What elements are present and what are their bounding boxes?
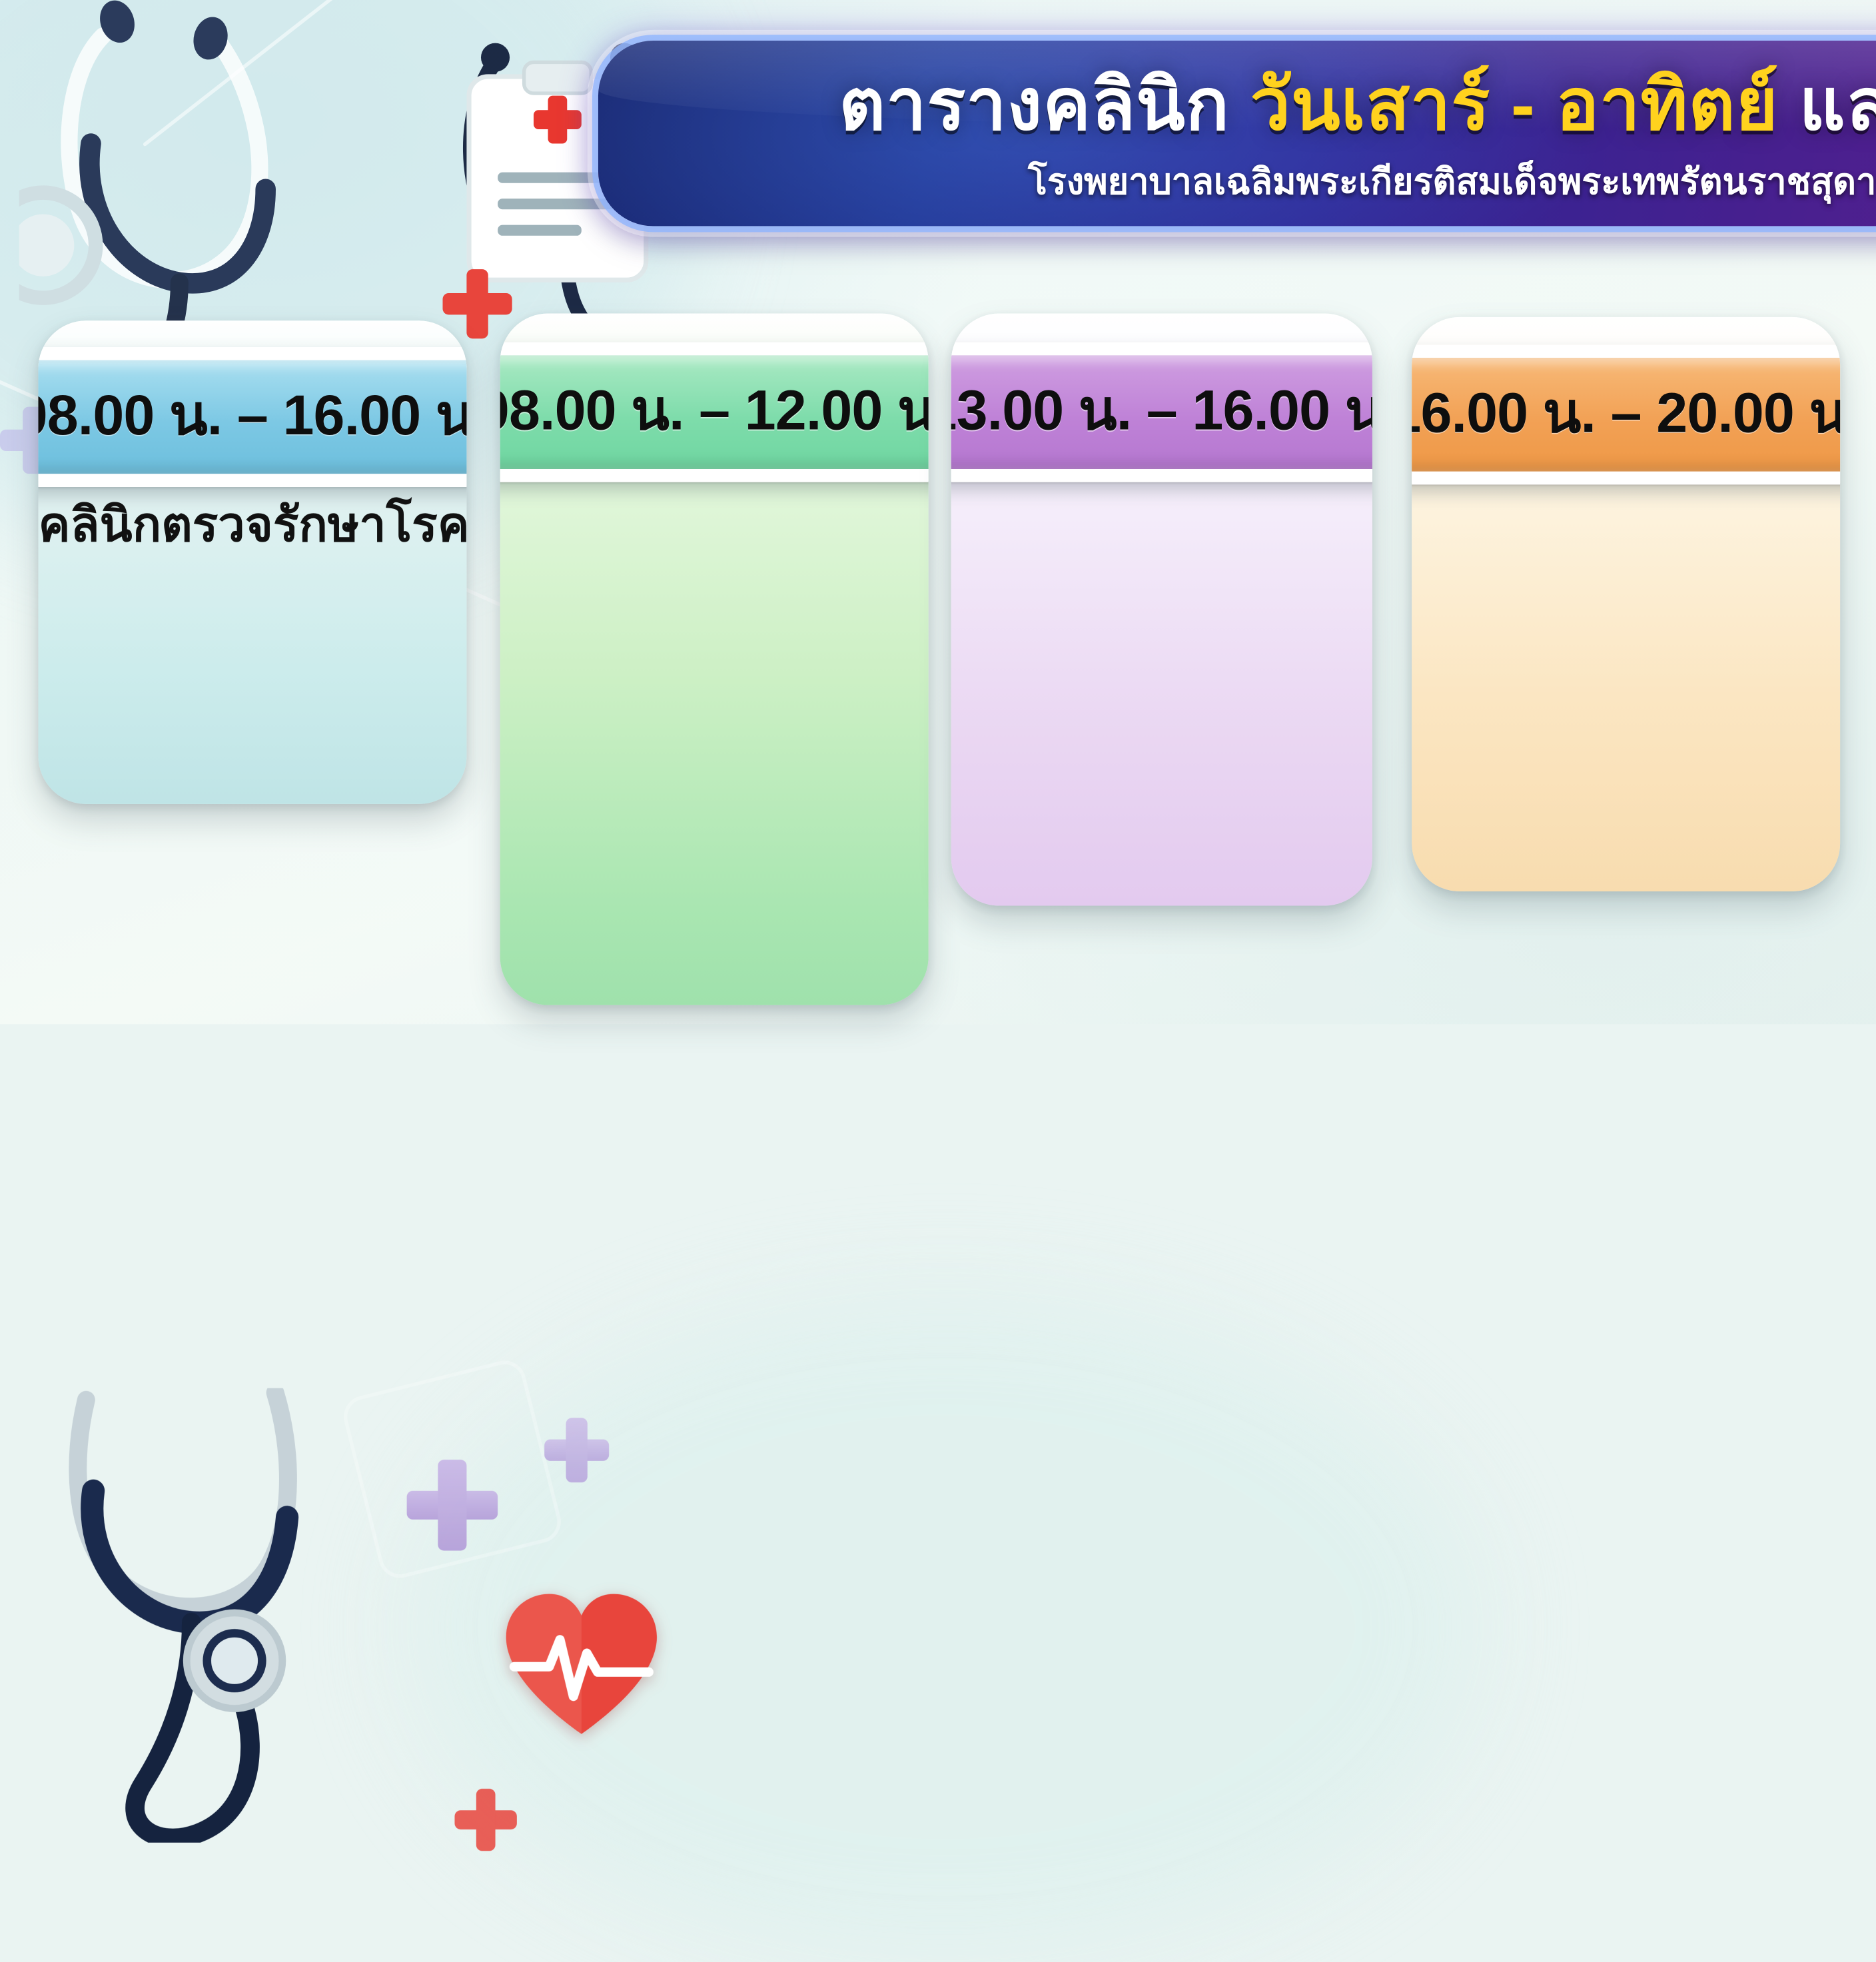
poster-canvas: ตารางคลินิก วันเสาร์ - อาทิตย์ และ วันหย…: [0, 0, 1876, 1024]
time-badge-wrapper-3: 13.00 น. – 16.00 น.: [951, 342, 1372, 482]
heart-pulse-icon: [500, 1592, 663, 1742]
time-badge-3: 13.00 น. – 16.00 น.: [951, 355, 1372, 469]
title-part-2: วันเสาร์ - อาทิตย์: [1250, 64, 1799, 144]
time-badge-1: 08.00 น. – 16.00 น.: [38, 360, 466, 474]
hospital-subtitle: โรงพยาบาลเฉลิมพระเกียรติสมเด็จพระเทพรัตน…: [1028, 154, 1876, 210]
time-badge-wrapper-4: 16.00 น. – 20.00 น.: [1412, 344, 1840, 484]
red-cross-icon: [442, 269, 512, 338]
header-banner: ตารางคลินิก วันเสาร์ - อาทิตย์ และ วันหย…: [598, 41, 1876, 226]
schedule-card-3[interactable]: 13.00 น. – 16.00 น.: [951, 314, 1372, 906]
purple-cross-icon: [407, 1460, 498, 1550]
time-badge-2: 08.00 น. – 12.00 น.: [500, 355, 929, 469]
time-badge-wrapper-1: 08.00 น. – 16.00 น.: [38, 347, 466, 487]
time-badge-wrapper-2: 08.00 น. – 12.00 น.: [500, 342, 929, 482]
time-badge-label-1: 08.00 น. – 16.00 น.: [38, 370, 466, 460]
time-badge-label-2: 08.00 น. – 12.00 น.: [500, 365, 929, 455]
schedule-card-1[interactable]: 08.00 น. – 16.00 น. คลินิกตรวจรักษาโรคทั…: [38, 320, 466, 804]
purple-cross-icon: [544, 1418, 609, 1482]
title-part-1: ตารางคลินิก: [839, 64, 1250, 144]
time-badge-4: 16.00 น. – 20.00 น.: [1412, 358, 1840, 472]
clinic-name-1: คลินิกตรวจรักษาโรคทั่วไป: [38, 486, 466, 562]
schedule-card-4[interactable]: 16.00 น. – 20.00 น.: [1412, 317, 1840, 891]
red-cross-icon: [454, 1789, 516, 1851]
time-badge-label-3: 13.00 น. – 16.00 น.: [951, 365, 1372, 455]
time-badge-label-4: 16.00 น. – 20.00 น.: [1412, 367, 1840, 457]
title-part-3: และ: [1799, 64, 1876, 144]
schedule-card-2[interactable]: 08.00 น. – 12.00 น.: [500, 314, 929, 1005]
page-title: ตารางคลินิก วันเสาร์ - อาทิตย์ และ วันหย…: [839, 67, 1876, 142]
stethoscope-icon: [24, 1388, 383, 1842]
